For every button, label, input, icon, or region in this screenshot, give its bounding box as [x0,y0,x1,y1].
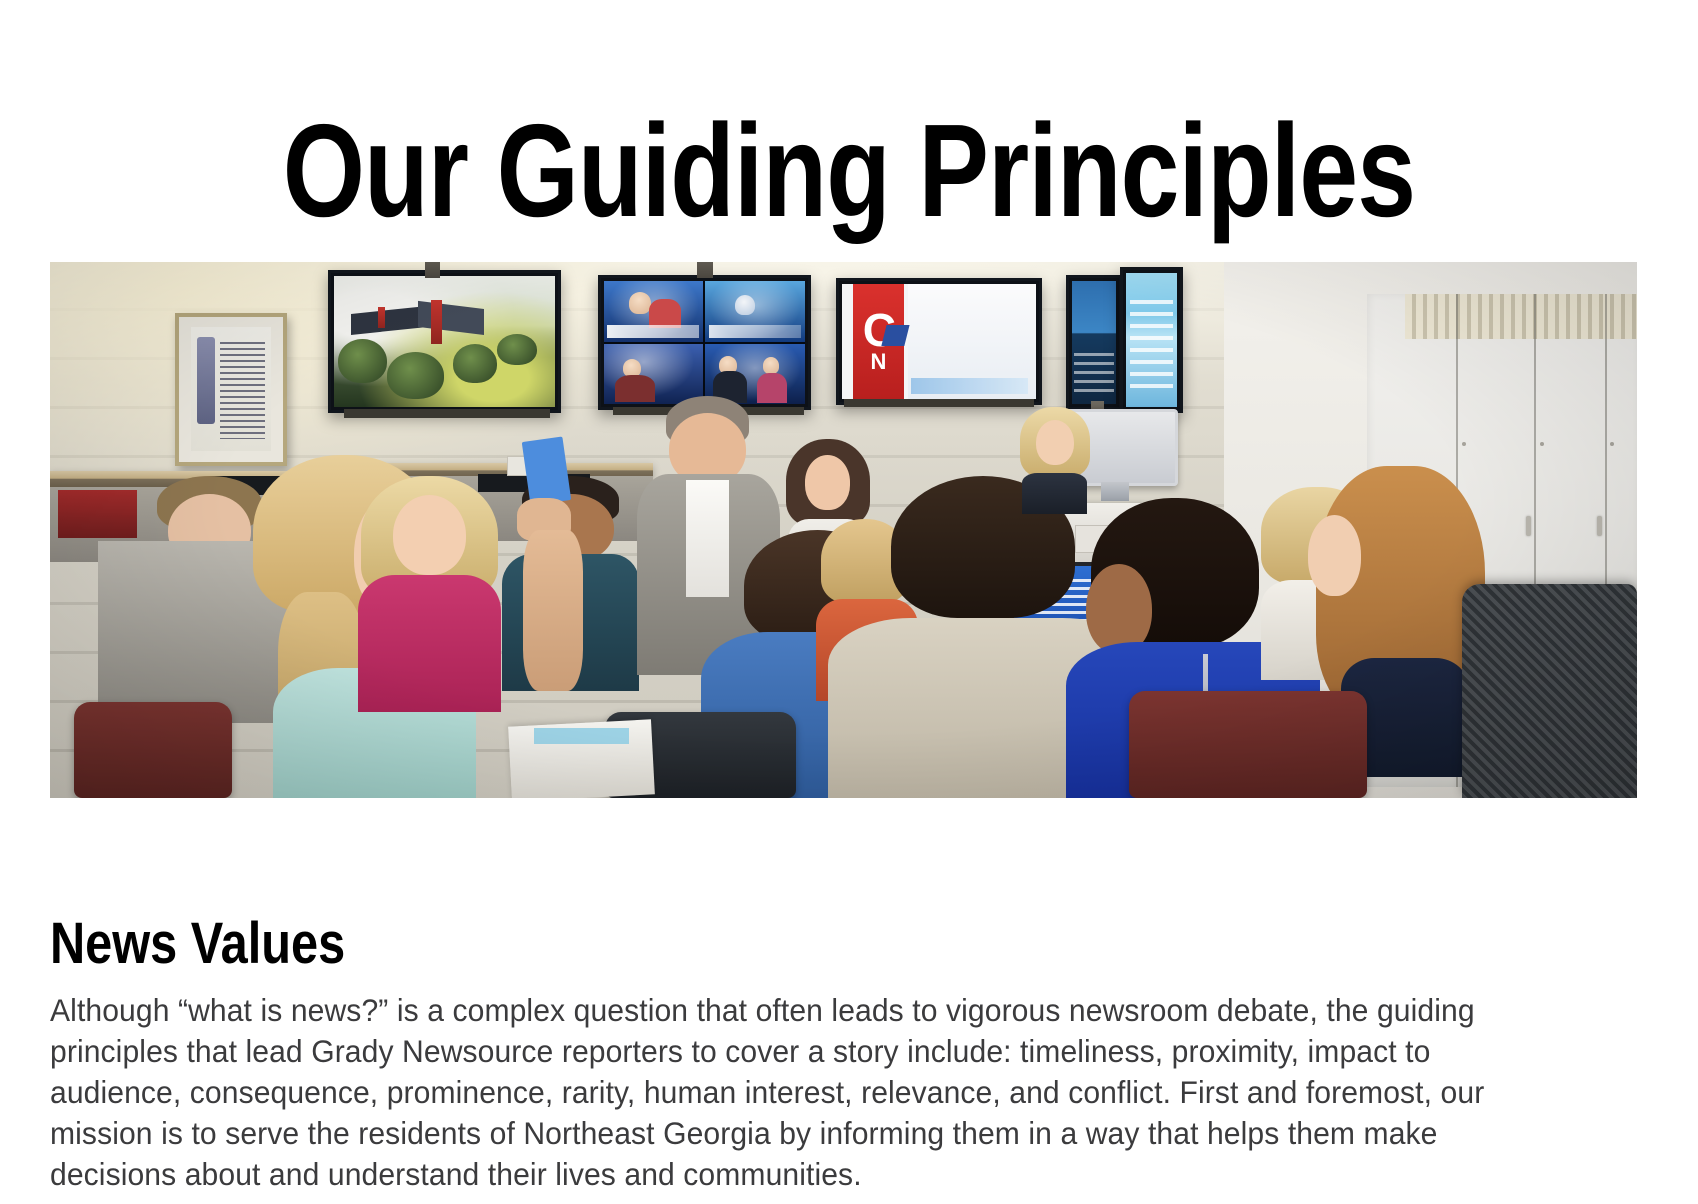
video-wall-cell [705,281,805,341]
chair-right [1129,691,1367,798]
person-pink-dress [352,476,511,712]
monitor-mount-center [697,262,713,278]
page-root: Our Guiding Principles [0,0,1698,1204]
backpack [1462,584,1637,798]
page-title: Our Guiding Principles [170,104,1528,239]
raised-arm [523,530,583,691]
monitor-blue-right [1120,267,1183,412]
hero-image: C N [50,262,1637,798]
counter-red-panel [58,490,137,538]
video-wall-cell [604,281,704,341]
locker-vent [1405,294,1637,338]
monitor-shelf-cn [844,399,1034,408]
paper-highlight [534,728,629,744]
chair-left [74,702,233,798]
monitor-blue-left [1066,275,1123,410]
monitor-aerial-footage [328,270,561,413]
video-wall-cell [705,344,805,404]
monitor-shelf-left [344,409,550,418]
video-wall-cell [604,344,704,404]
newsroom-photo-scene: C N [50,262,1637,798]
framed-document [175,313,286,466]
monitor-mount-left [425,262,441,278]
monitor-cn-broadcast: C N [836,278,1042,405]
section-heading-news-values: News Values [50,914,345,975]
monitor-video-wall [598,275,812,410]
news-values-paragraph: Although “what is news?” is a complex qu… [50,990,1540,1195]
cn-banner-letter-n: N [870,351,886,373]
